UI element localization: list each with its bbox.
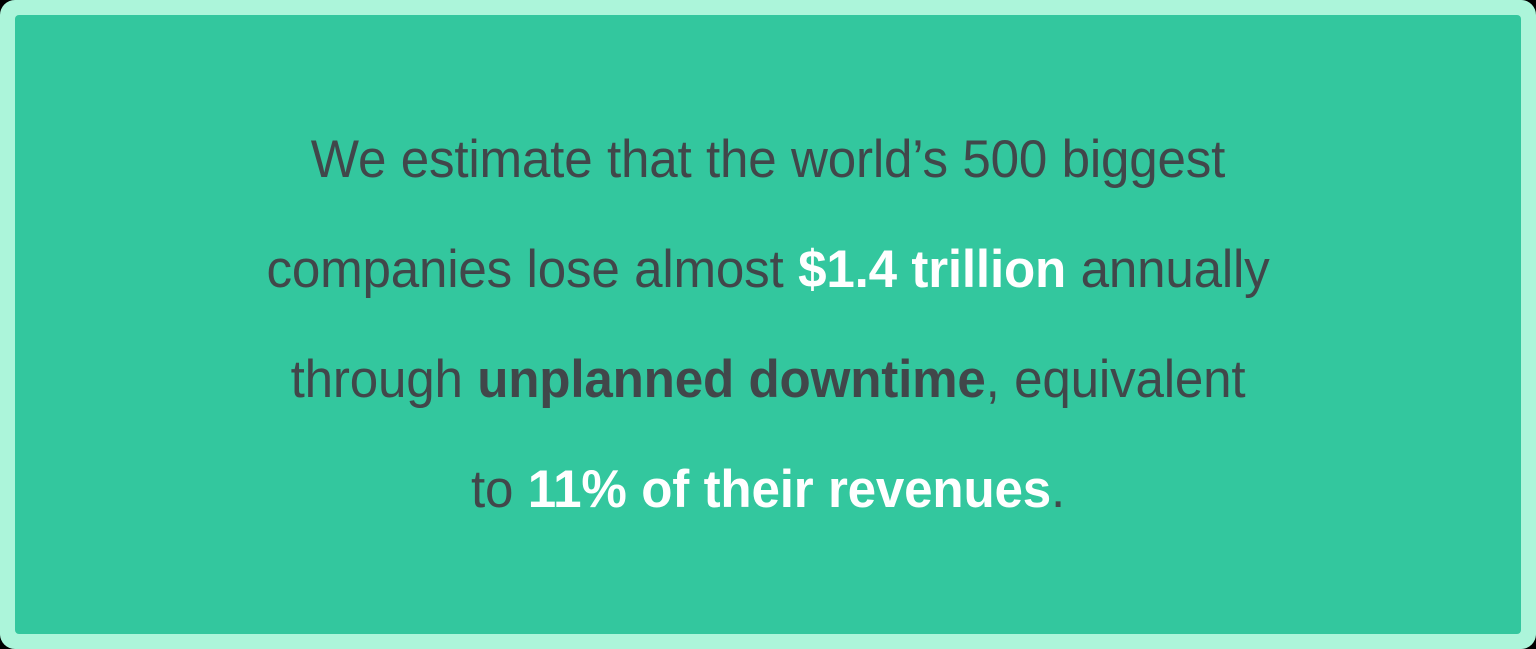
statistic-statement: We estimate that the world’s 500 biggest… — [41, 105, 1494, 545]
callout-panel: We estimate that the world’s 500 biggest… — [15, 15, 1521, 634]
statement-line-4: to 11% of their revenues. — [80, 435, 1456, 545]
highlight-revenue-share: 11% of their revenues — [528, 460, 1051, 519]
highlight-annual-loss: $1.4 trillion — [798, 240, 1066, 299]
statement-line-3: through unplanned downtime, equivalent — [80, 325, 1456, 435]
highlight-unplanned-downtime: unplanned downtime — [477, 350, 985, 409]
statement-line-4-segment-1: to — [471, 460, 528, 519]
statement-line-2-segment-3: annually — [1066, 240, 1269, 299]
statement-line-1-segment-1: We estimate that the world’s 500 biggest — [311, 130, 1225, 189]
statement-line-4-segment-3: . — [1051, 460, 1065, 519]
callout-outer-frame: We estimate that the world’s 500 biggest… — [0, 0, 1536, 649]
statement-line-1: We estimate that the world’s 500 biggest — [80, 105, 1456, 215]
statement-line-3-segment-3: , equivalent — [986, 350, 1246, 409]
statement-line-2-segment-1: companies lose almost — [266, 240, 798, 299]
statement-line-2: companies lose almost $1.4 trillion annu… — [80, 215, 1456, 325]
statement-line-3-segment-1: through — [291, 350, 478, 409]
